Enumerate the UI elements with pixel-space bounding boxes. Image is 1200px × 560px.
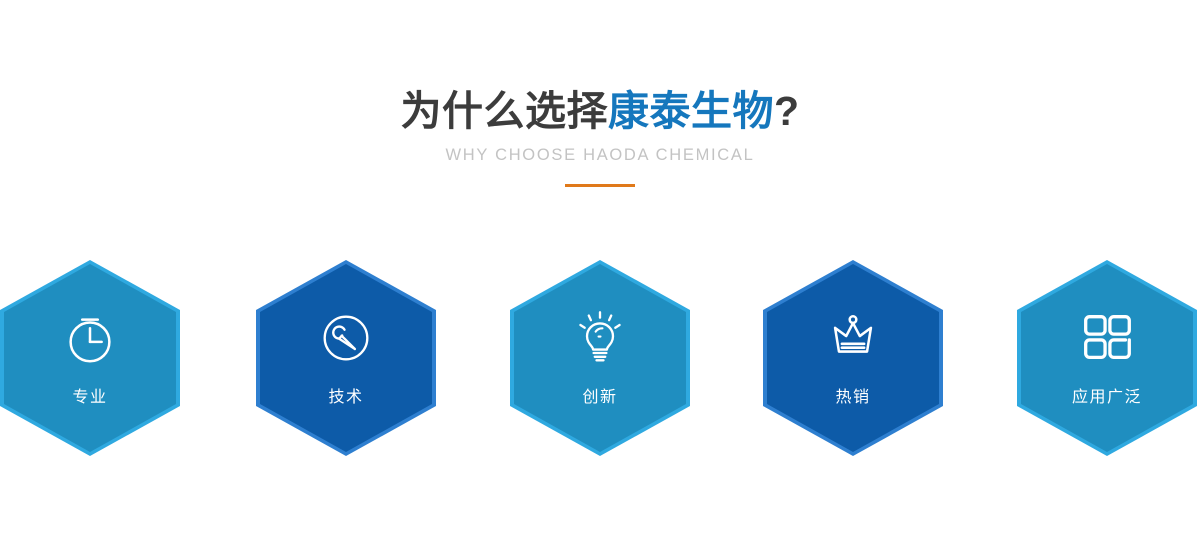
feature-label: 热销 — [835, 383, 870, 407]
title-accent: 康泰生物 — [608, 88, 774, 134]
page-title: 为什么选择康泰生物? — [0, 88, 1200, 135]
hexagon-content: 热销 — [763, 260, 943, 456]
hexagon-content: 创新 — [510, 260, 690, 456]
grid-squares-icon — [1076, 307, 1138, 369]
feature-hexagon-bestseller[interactable]: 热销 — [763, 260, 943, 456]
crown-icon — [822, 307, 884, 369]
feature-label: 创新 — [582, 383, 617, 407]
lightbulb-icon — [569, 307, 631, 369]
feature-hexagon-technology[interactable]: 技术 — [256, 260, 436, 456]
feature-label: 专业 — [72, 383, 107, 407]
heading-divider — [565, 184, 635, 187]
section-heading: 为什么选择康泰生物? WHY CHOOSE HAODA CHEMICAL — [0, 88, 1200, 187]
title-prefix: 为什么选择 — [400, 88, 608, 134]
hexagon-content: 技术 — [256, 260, 436, 456]
feature-hexagon-row: 专业 技术 — [0, 260, 1200, 460]
feature-hexagon-wide-application[interactable]: 应用广泛 — [1017, 260, 1197, 456]
feature-hexagon-innovation[interactable]: 创新 — [510, 260, 690, 456]
section-subtitle: WHY CHOOSE HAODA CHEMICAL — [0, 146, 1200, 165]
hexagon-content: 应用广泛 — [1017, 260, 1197, 456]
title-suffix: ? — [774, 88, 800, 134]
hexagon-content: 专业 — [0, 260, 180, 456]
wrench-circle-icon — [315, 307, 377, 369]
stopwatch-icon — [59, 307, 121, 369]
feature-label: 技术 — [328, 383, 363, 407]
feature-hexagon-professional[interactable]: 专业 — [0, 260, 180, 456]
feature-label: 应用广泛 — [1072, 383, 1142, 407]
why-choose-us-section: 为什么选择康泰生物? WHY CHOOSE HAODA CHEMICAL 专业 — [0, 0, 1200, 560]
